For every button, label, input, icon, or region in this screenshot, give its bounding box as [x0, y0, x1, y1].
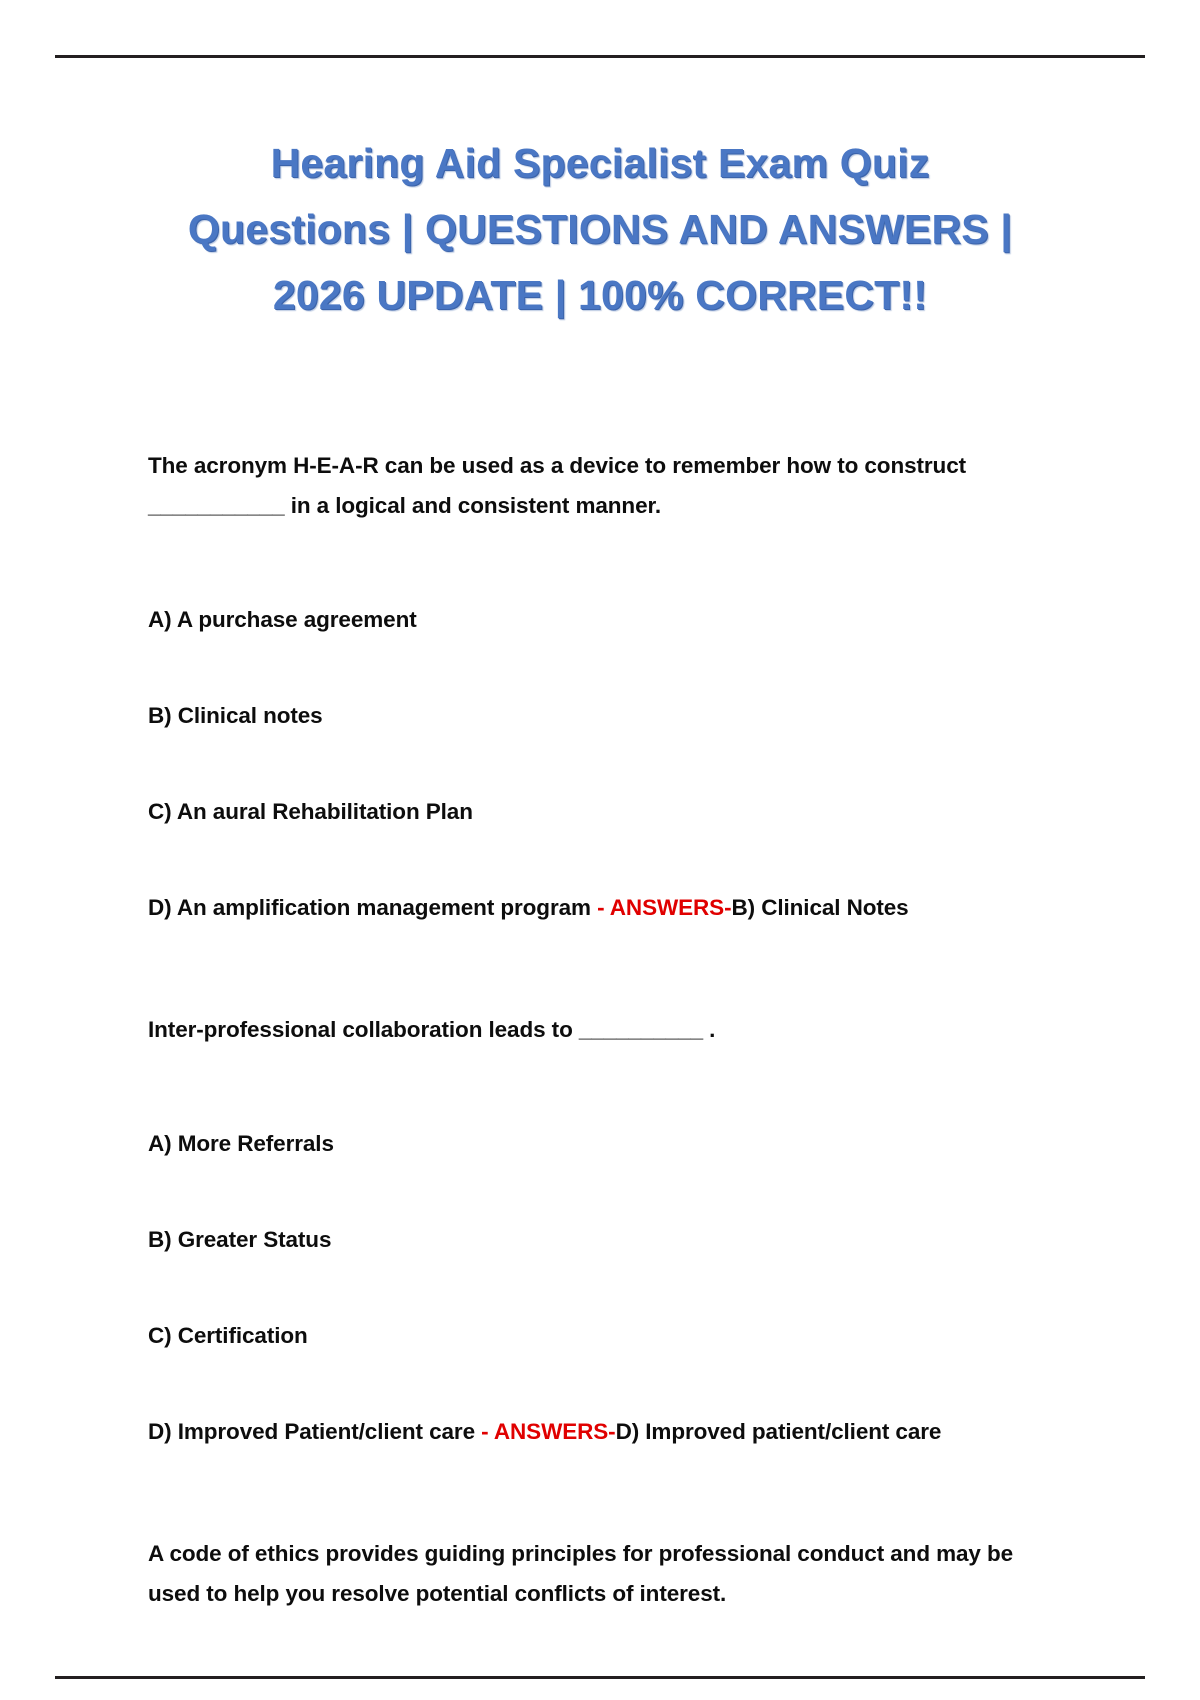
page-title-line-1: Hearing Aid Specialist Exam Quiz	[271, 140, 930, 186]
correct-answer-text: B) Clinical Notes	[732, 895, 909, 920]
question-prompt: The acronym H-E-A-R can be used as a dev…	[148, 446, 1052, 526]
footer-divider-rule	[55, 1676, 1145, 1679]
spacer	[148, 328, 1052, 446]
statement-text: A code of ethics provides guiding princi…	[148, 1534, 1052, 1614]
spacer	[148, 1368, 1052, 1412]
page-title-line-3: 2026 UPDATE | 100% CORRECT!!	[273, 272, 927, 318]
spacer	[148, 1272, 1052, 1316]
answer-option-a[interactable]: A) A purchase agreement	[148, 600, 1052, 640]
document-body: The acronym H-E-A-R can be used as a dev…	[0, 328, 1200, 1614]
correct-answer-text: D) Improved patient/client care	[616, 1419, 942, 1444]
spacer	[148, 1176, 1052, 1220]
document-page: Hearing Aid Specialist Exam Quiz Questio…	[0, 0, 1200, 1700]
spacer	[148, 1452, 1052, 1534]
document-content: Hearing Aid Specialist Exam Quiz Questio…	[0, 0, 1200, 1614]
answer-option-d-label: D) An amplification management program	[148, 895, 597, 920]
answers-marker: - ANSWERS-	[597, 895, 731, 920]
page-title-line-2: Questions | QUESTIONS AND ANSWERS |	[188, 206, 1012, 252]
spacer	[148, 526, 1052, 600]
answer-option-c[interactable]: C) Certification	[148, 1316, 1052, 1356]
question-prompt: Inter-professional collaboration leads t…	[148, 1010, 1052, 1050]
answer-option-b[interactable]: B) Clinical notes	[148, 696, 1052, 736]
spacer	[148, 1050, 1052, 1124]
answer-option-d[interactable]: D) Improved Patient/client care - ANSWER…	[148, 1412, 1052, 1452]
answer-option-a[interactable]: A) More Referrals	[148, 1124, 1052, 1164]
answer-option-c[interactable]: C) An aural Rehabilitation Plan	[148, 792, 1052, 832]
question-block-1: The acronym H-E-A-R can be used as a dev…	[148, 446, 1052, 928]
answers-marker: - ANSWERS-	[481, 1419, 615, 1444]
page-title: Hearing Aid Specialist Exam Quiz Questio…	[0, 0, 1200, 328]
spacer	[148, 748, 1052, 792]
question-block-2: Inter-professional collaboration leads t…	[148, 1010, 1052, 1452]
answer-option-d[interactable]: D) An amplification management program -…	[148, 888, 1052, 928]
spacer	[148, 652, 1052, 696]
answer-option-b[interactable]: B) Greater Status	[148, 1220, 1052, 1260]
answer-option-d-label: D) Improved Patient/client care	[148, 1419, 481, 1444]
spacer	[148, 928, 1052, 1010]
spacer	[148, 844, 1052, 888]
